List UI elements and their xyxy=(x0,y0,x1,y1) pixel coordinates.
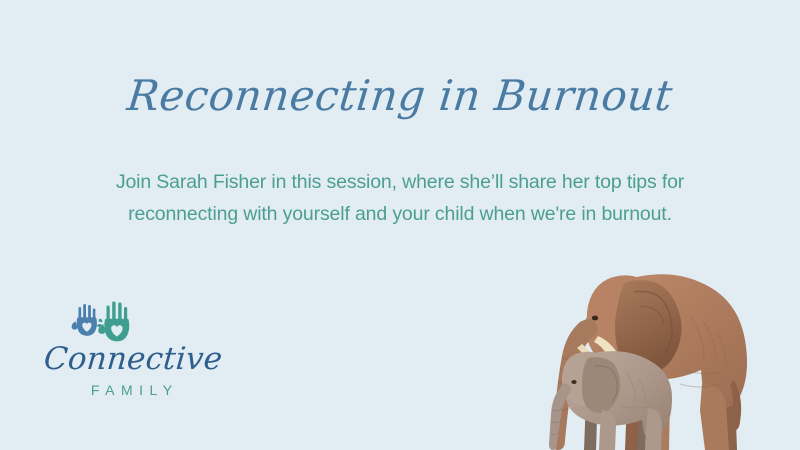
mother-and-baby-elephant-photo xyxy=(522,260,778,450)
brand-logo: Connective FAMILY xyxy=(44,300,219,400)
page-title: Reconnecting in Burnout xyxy=(0,72,800,119)
session-description-line-1: Join Sarah Fisher in this session, where… xyxy=(95,167,705,199)
presentation-slide: Reconnecting in Burnout Join Sarah Fishe… xyxy=(0,0,800,450)
logo-handprints xyxy=(70,300,219,346)
session-description: Join Sarah Fisher in this session, where… xyxy=(95,167,705,230)
logo-brand-name: Connective xyxy=(43,344,221,375)
session-description-line-2: reconnecting with yourself and your chil… xyxy=(95,199,705,231)
logo-brand-subtitle: FAMILY xyxy=(44,382,219,398)
